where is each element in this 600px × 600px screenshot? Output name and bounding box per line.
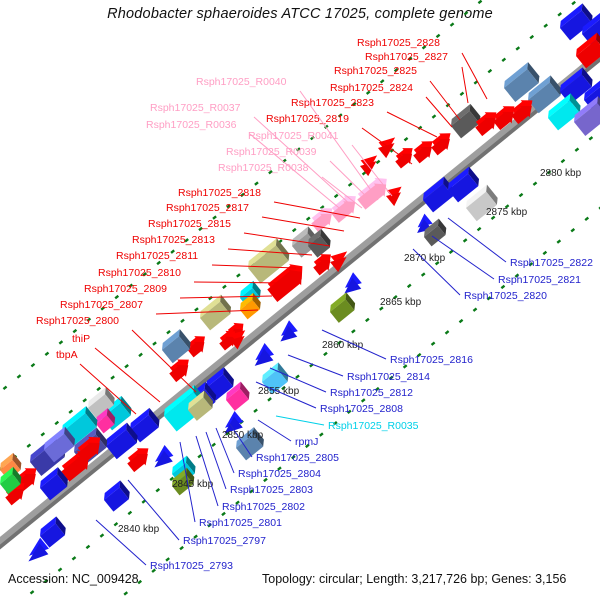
gene-label[interactable]: Rsph17025_2801 [199, 517, 282, 529]
gene-label[interactable]: Rsph17025_2816 [390, 354, 473, 366]
gene-label[interactable]: Rsph17025_2805 [256, 452, 339, 464]
gene-label[interactable]: Rsph17025_2817 [166, 202, 249, 214]
gene-label[interactable]: Rsph17025_2815 [148, 218, 231, 230]
gene-feature[interactable] [101, 480, 133, 511]
gene-label[interactable]: Rsph17025_2797 [183, 535, 266, 547]
gene-label[interactable]: Rsph17025_R0041 [248, 130, 339, 142]
ruler-tick-label: 2840 kbp [118, 524, 160, 535]
gene-feature[interactable] [327, 292, 358, 322]
gene-label[interactable]: Rsph17025_2819 [266, 113, 349, 125]
gene-label[interactable]: Rsph17025_R0037 [150, 102, 241, 114]
ruler-tick-label: 2845 kbp [172, 479, 214, 490]
gene-label[interactable]: Rsph17025_2828 [357, 37, 440, 49]
ruler-tick-label: 2875 kbp [486, 207, 528, 218]
gene-label[interactable]: Rsph17025_2793 [150, 560, 233, 572]
gene-label[interactable]: Rsph17025_2808 [320, 403, 403, 415]
gene-label[interactable]: Rsph17025_2803 [230, 484, 313, 496]
gene-label[interactable]: Rsph17025_2802 [222, 501, 305, 513]
genome-map-viewer: Rhodobacter sphaeroides ATCC 17025, comp… [0, 0, 600, 600]
gene-label[interactable]: Rsph17025_2822 [510, 257, 593, 269]
gene-feature[interactable] [383, 182, 408, 207]
gene-label[interactable]: Rsph17025_2823 [291, 97, 374, 109]
gene-feature[interactable] [273, 320, 300, 347]
gene-label[interactable]: Rsph17025_2809 [84, 283, 167, 295]
label-leader-line [288, 355, 343, 376]
gene-label[interactable]: Rsph17025_R0038 [218, 162, 309, 174]
gene-label[interactable]: Rsph17025_2804 [238, 468, 321, 480]
gene-label[interactable]: Rsph17025_2827 [365, 51, 448, 63]
accession-text: Accession: NC_009428 [8, 572, 139, 586]
gene-label[interactable]: thiP [72, 333, 90, 345]
gene-label[interactable]: Rsph17025_2818 [178, 187, 261, 199]
label-leader-line [430, 81, 460, 120]
reverse-rna-labels[interactable]: Rsph17025_R0035 [276, 416, 419, 432]
guide-dotted-line [0, 0, 546, 469]
label-leader-line [196, 436, 218, 506]
gene-label[interactable]: Rsph17025_R0036 [146, 119, 237, 131]
gene-label[interactable]: Rsph17025_2813 [132, 234, 215, 246]
label-leader-line [387, 112, 437, 137]
ruler-tick-label: 2880 kbp [540, 168, 582, 179]
gene-label[interactable]: tbpA [56, 349, 78, 361]
gene-feature[interactable] [357, 150, 383, 176]
gene-label[interactable]: Rsph17025_2825 [334, 65, 417, 77]
gene-label[interactable]: Rsph17025_2821 [498, 274, 581, 286]
gene-label[interactable]: Rsph17025_2800 [36, 315, 119, 327]
gene-feature[interactable] [147, 445, 175, 473]
gene-label[interactable]: Rsph17025_R0040 [196, 76, 287, 88]
gene-label[interactable]: Rsph17025_2820 [464, 290, 547, 302]
label-leader-line [276, 416, 324, 425]
label-leader-line [262, 217, 344, 231]
gene-label[interactable]: Rsph17025_R0039 [226, 146, 317, 158]
gene-label[interactable]: rpmJ [295, 436, 318, 448]
gene-label[interactable]: Rsph17025_R0035 [328, 420, 419, 432]
gene-label[interactable]: Rsph17025_2824 [330, 82, 413, 94]
gene-label[interactable]: Rsph17025_2812 [330, 387, 413, 399]
genome-map-canvas[interactable]: 2840 kbp2845 kbp2850 kbp2855 kbp2860 kbp… [0, 0, 600, 600]
gene-label[interactable]: Rsph17025_2807 [60, 299, 143, 311]
gene-feature[interactable] [159, 329, 194, 363]
gene-label[interactable]: Rsph17025_2811 [116, 250, 198, 262]
ruler-tick-label: 2865 kbp [380, 297, 422, 308]
label-leader-line [448, 218, 506, 262]
ruler-tick-label: 2870 kbp [404, 253, 446, 264]
gene-label[interactable]: Rsph17025_2810 [98, 267, 181, 279]
ruler-tick-label: 2850 kbp [222, 430, 264, 441]
gene-label[interactable]: Rsph17025_2814 [347, 371, 430, 383]
status-bar: Accession: NC_009428 Topology: circular;… [0, 572, 600, 594]
label-leader-line [426, 97, 452, 127]
gene-feature[interactable] [337, 272, 364, 299]
label-leader-line [462, 67, 468, 103]
topology-text: Topology: circular; Length: 3,217,726 bp… [262, 572, 566, 586]
